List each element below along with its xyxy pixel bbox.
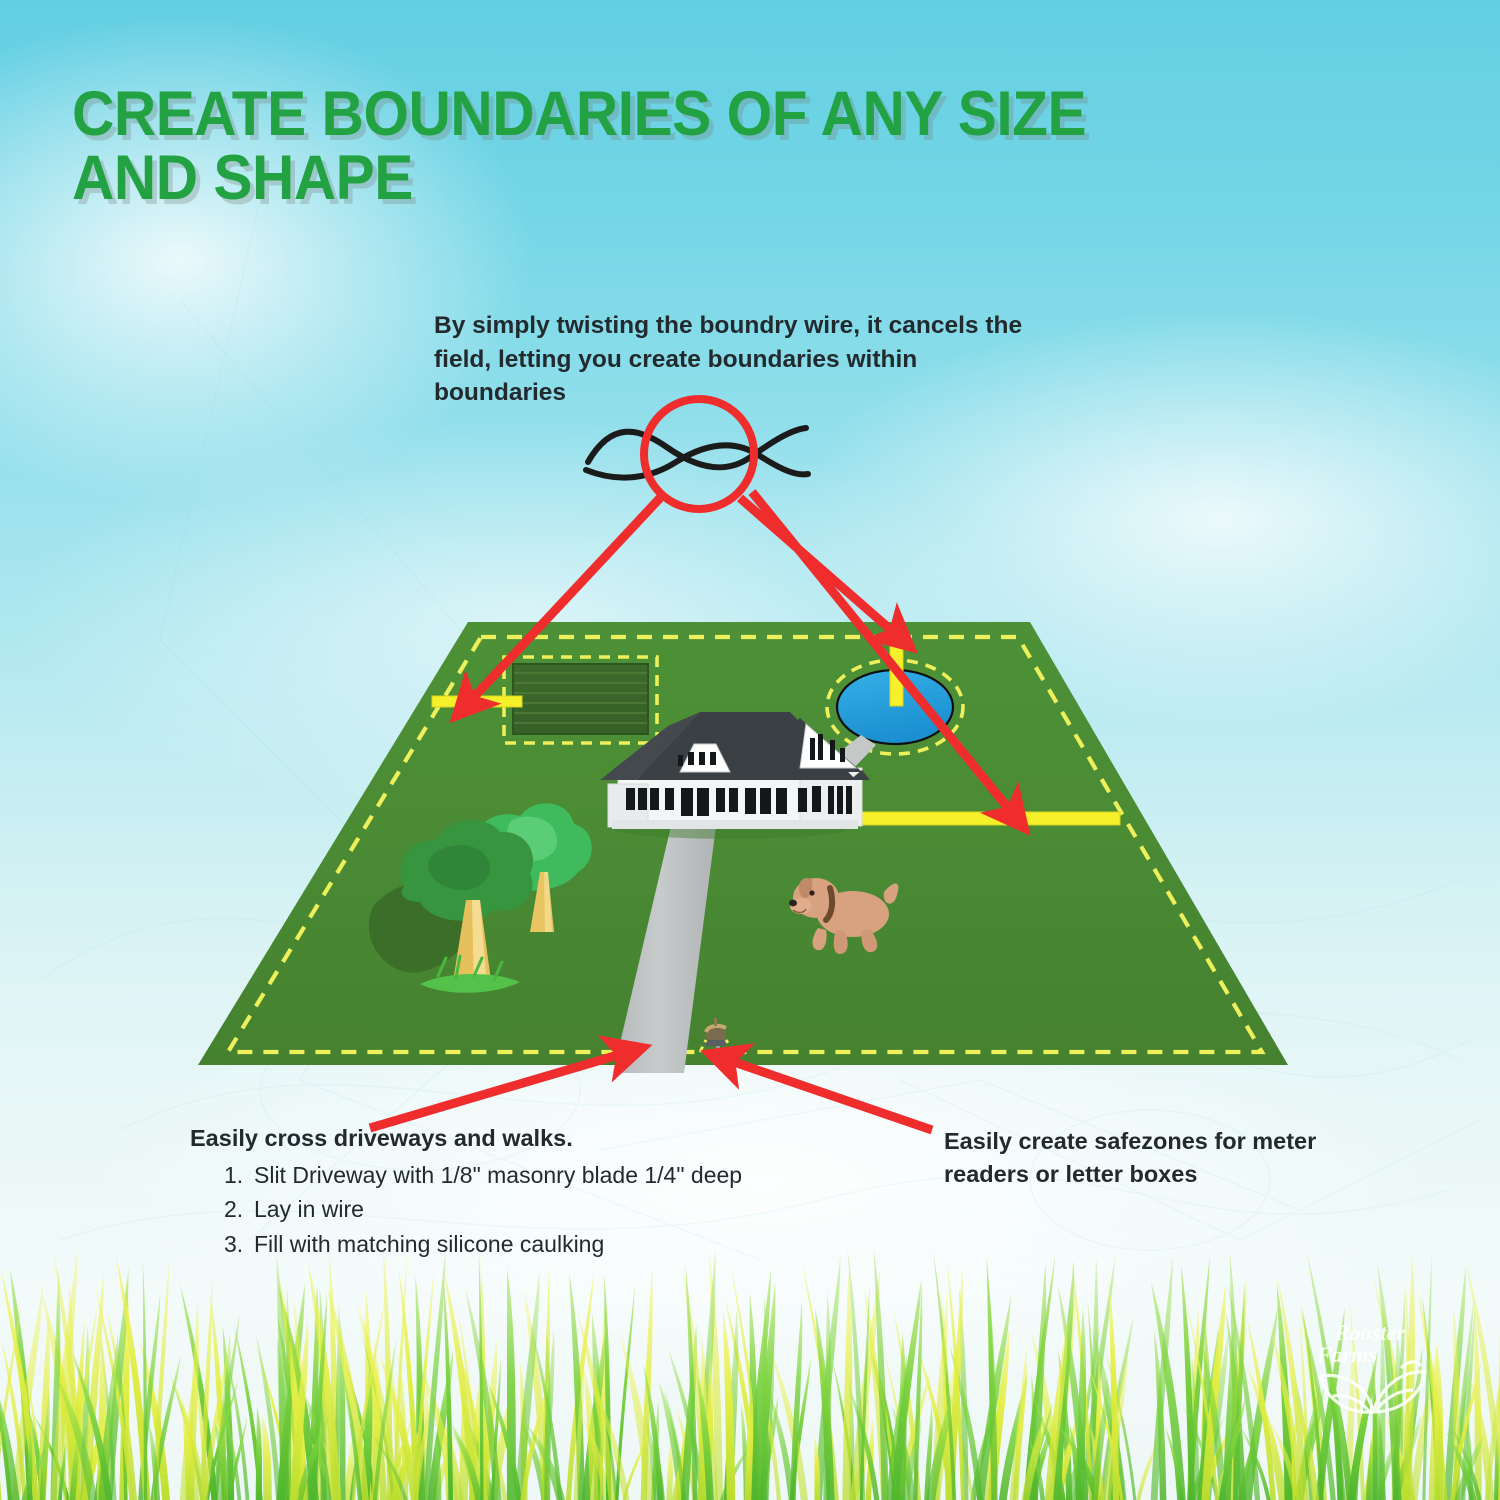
twisted-wire-illustration bbox=[586, 399, 808, 509]
twisted-wire-right bbox=[855, 812, 1120, 825]
arrow-to-driveway bbox=[370, 1055, 618, 1128]
grass-footer bbox=[0, 1230, 1500, 1500]
logo-text-line-2: Farms bbox=[1316, 1342, 1377, 1367]
callout-driveway-heading: Easily cross driveways and walks. bbox=[190, 1122, 870, 1155]
brand-logo: Rooster Farms bbox=[1305, 1310, 1440, 1425]
callout-twisting-wire: By simply twisting the boundry wire, it … bbox=[434, 309, 1054, 410]
highlight-circle-icon bbox=[644, 399, 754, 509]
garden-bed bbox=[504, 657, 657, 743]
callout-safezone: Easily create safezones for meter reader… bbox=[944, 1125, 1344, 1191]
logo-leaf-icon bbox=[1321, 1362, 1425, 1412]
driveway-step: Slit Driveway with 1/8" masonry blade 1/… bbox=[224, 1158, 870, 1193]
driveway-step: Lay in wire bbox=[224, 1192, 870, 1227]
yard-lawn bbox=[198, 622, 1288, 1065]
arrow-to-mailbox bbox=[734, 1062, 932, 1130]
